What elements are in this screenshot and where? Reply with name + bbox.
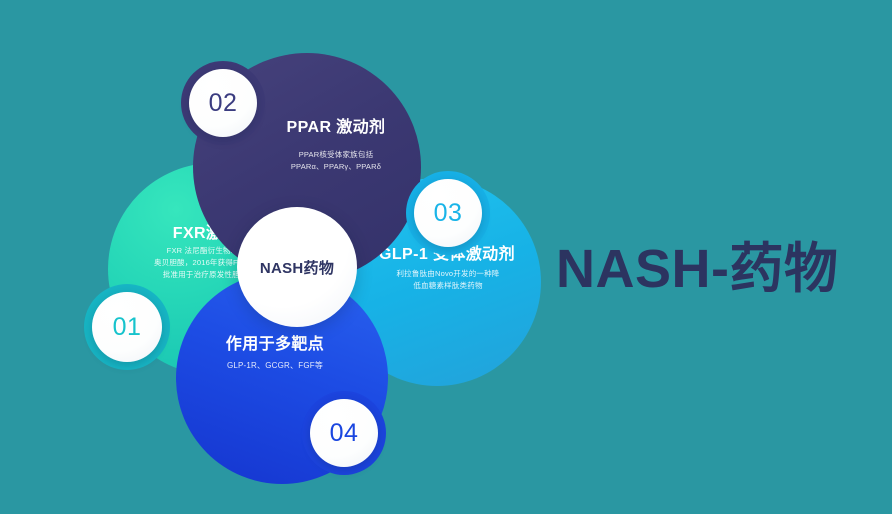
badge-01-disc: 01 xyxy=(92,292,162,362)
bubble-ppar-title: PPAR 激动剂 xyxy=(233,113,439,137)
center-hub-bubble[interactable]: NASH药物 xyxy=(237,207,357,327)
bubble-ppar-description: PPAR核受体家族包括 PPARα、PPARγ、PPARδ xyxy=(233,149,439,173)
badge-02-number: 02 xyxy=(209,89,238,118)
bubble-multi-target-description: GLP-1R、GCGR、FGF等 xyxy=(182,360,368,372)
badge-04-number: 04 xyxy=(330,419,359,448)
badge-03-disc: 03 xyxy=(414,179,482,247)
badge-01-number: 01 xyxy=(113,313,142,342)
badge-01[interactable]: 01 xyxy=(84,284,170,370)
bubble-glp1-desc-line: 低血糖素样肽类药物 xyxy=(349,280,547,292)
slide-canvas: FXR激动剂 FXR 法尼酯衍生物X受体 奥贝胆酸，2016年获得FDA加速 批… xyxy=(0,0,892,514)
badge-03[interactable]: 03 xyxy=(406,171,490,255)
bubble-multi-target-title: 作用于多靶点 xyxy=(182,330,368,354)
badge-02-disc: 02 xyxy=(189,69,257,137)
badge-04-disc: 04 xyxy=(310,399,378,467)
infographic-slide: FXR激动剂 FXR 法尼酯衍生物X受体 奥贝胆酸，2016年获得FDA加速 批… xyxy=(0,0,892,514)
bubble-ppar-desc-line: PPARα、PPARγ、PPARδ xyxy=(233,161,439,173)
bubble-ppar-desc-line: PPAR核受体家族包括 xyxy=(233,149,439,161)
page-title: NASH-药物 xyxy=(556,224,839,303)
badge-03-number: 03 xyxy=(434,199,463,228)
bubble-glp1-desc-line: 利拉鲁肽由Novo开发的一种降 xyxy=(349,268,547,280)
bubble-multi-target-desc-line: GLP-1R、GCGR、FGF等 xyxy=(182,360,368,372)
center-hub-label: NASH药物 xyxy=(260,257,334,278)
bubble-glp1-description: 利拉鲁肽由Novo开发的一种降 低血糖素样肽类药物 xyxy=(349,268,547,292)
badge-04[interactable]: 04 xyxy=(302,391,386,475)
badge-02[interactable]: 02 xyxy=(181,61,265,145)
